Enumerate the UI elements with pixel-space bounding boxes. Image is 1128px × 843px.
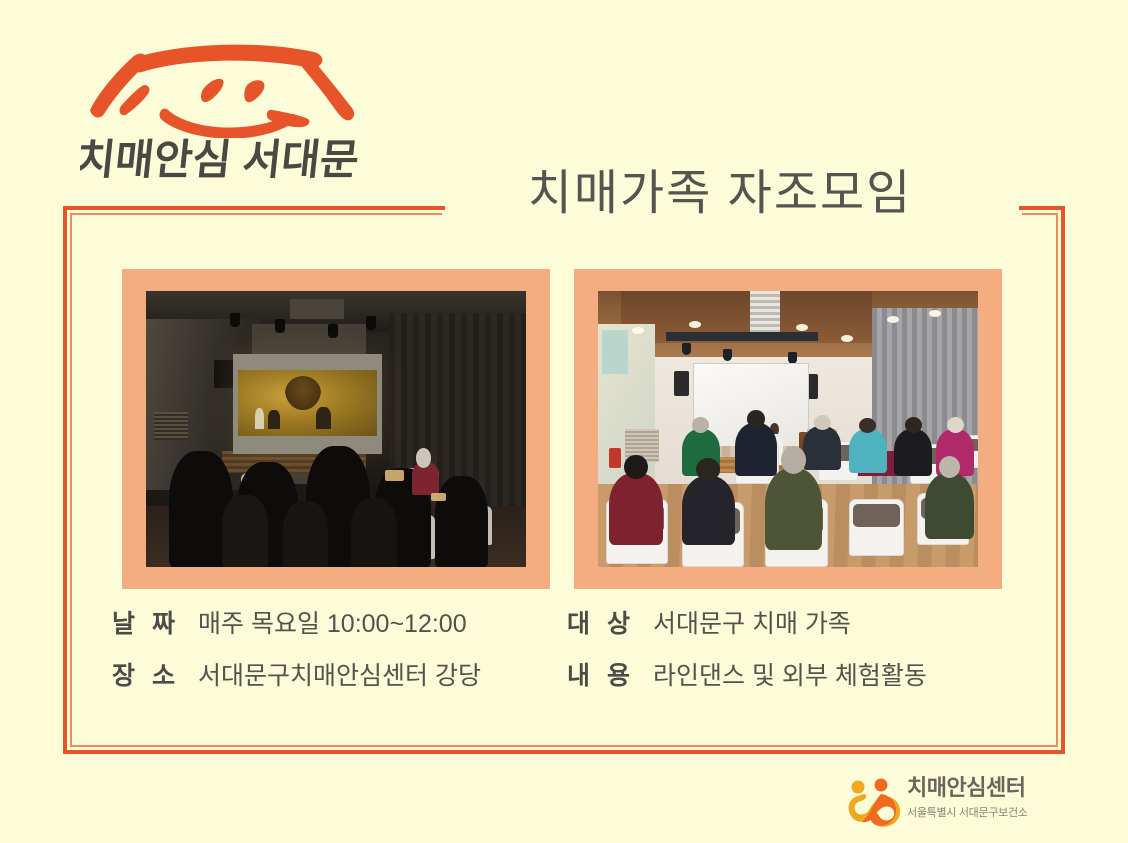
audience-member-maroon xyxy=(609,473,662,545)
info-label-date: 날 짜 xyxy=(112,604,186,640)
frame-top-left-inner-line xyxy=(70,213,442,215)
wall-vent xyxy=(154,412,188,440)
photo-row xyxy=(122,269,1002,591)
frame-right-line xyxy=(1061,206,1065,754)
spotlight xyxy=(723,349,732,361)
info-value-target: 서대문구 치매 가족 xyxy=(653,604,851,640)
audience-member xyxy=(222,495,268,567)
chair xyxy=(849,499,904,556)
projected-figure xyxy=(255,408,265,429)
info-row-content: 내 용 라인댄스 및 외부 체험활동 xyxy=(567,656,987,692)
page-title: 치매가족 자조모임 xyxy=(440,170,1000,218)
info-label-target: 대 상 xyxy=(567,604,641,640)
info-value-date: 매주 목요일 10:00~12:00 xyxy=(198,604,467,640)
speaker-left xyxy=(214,360,233,388)
footer-subtitle: 서울특별시 서대문구보건소 xyxy=(907,804,1067,820)
frame-top-right-inner-line xyxy=(1022,213,1058,215)
audience-member xyxy=(351,498,397,567)
spotlight xyxy=(230,313,240,327)
photo-lit-auditorium xyxy=(598,291,978,567)
poster-canvas: 치매안심 서대문 치매가족 자조모임 xyxy=(0,0,1128,843)
audience-member-dark xyxy=(803,426,841,470)
projected-tree xyxy=(285,376,321,410)
audience-member xyxy=(435,476,488,567)
frame-bottom-inner-line xyxy=(70,745,1058,747)
audience-member-teal xyxy=(849,429,887,473)
photo-dark-auditorium xyxy=(146,291,526,567)
info-row-target: 대 상 서대문구 치매 가족 xyxy=(567,604,987,640)
projected-figure xyxy=(268,410,279,430)
frame-left-inner-line xyxy=(70,213,72,747)
two-people-infinity-icon xyxy=(845,778,901,828)
brand-logo: 치매안심 서대문 xyxy=(76,28,376,188)
info-value-content: 라인댄스 및 외부 체험활동 xyxy=(653,656,927,692)
audience-member-black xyxy=(682,476,735,545)
phone-glow xyxy=(385,470,404,481)
projected-image xyxy=(238,370,377,436)
footer-text: 치매안심센터 서울특별시 서대문구보건소 xyxy=(907,776,1067,820)
brand-wordmark: 치매안심 서대문 xyxy=(80,128,380,188)
upper-window xyxy=(602,330,629,374)
projection-screen xyxy=(233,354,381,453)
frame-right-inner-line xyxy=(1056,213,1058,747)
projected-figure xyxy=(316,407,331,429)
info-label-place: 장 소 xyxy=(112,656,186,692)
downlight xyxy=(887,316,899,323)
projector xyxy=(290,299,343,318)
spotlight xyxy=(682,343,691,355)
spotlight xyxy=(275,319,285,333)
photo-card-lit-auditorium xyxy=(574,269,1002,589)
audience-member xyxy=(283,501,329,567)
lighting-track xyxy=(666,332,818,340)
audience-member-olive xyxy=(765,468,822,551)
footer-title: 치매안심센터 xyxy=(907,776,1067,800)
downlight xyxy=(632,327,644,334)
info-row-place: 장 소 서대문구치매안심센터 강당 xyxy=(112,656,582,692)
speaker-left xyxy=(674,371,689,396)
info-column-right: 대 상 서대문구 치매 가족 내 용 라인댄스 및 외부 체험활동 xyxy=(567,604,987,708)
frame-bottom-line xyxy=(63,750,1065,754)
hanok-roof-smile-icon xyxy=(76,28,376,138)
audience-hat xyxy=(416,448,431,467)
frame-top-right-line xyxy=(1019,206,1065,210)
info-label-content: 내 용 xyxy=(567,656,641,692)
frame-left-line xyxy=(63,206,67,754)
photo-card-dark-auditorium xyxy=(122,269,550,589)
audience-member-navy xyxy=(735,423,777,475)
downlight xyxy=(796,324,808,331)
fire-extinguisher xyxy=(609,448,620,467)
audience-member-olive xyxy=(925,473,974,539)
info-row-date: 날 짜 매주 목요일 10:00~12:00 xyxy=(112,604,582,640)
frame-top-left-line xyxy=(63,206,445,210)
info-block: 날 짜 매주 목요일 10:00~12:00 장 소 서대문구치매안심센터 강당… xyxy=(112,604,992,714)
audience-member-black xyxy=(894,429,932,476)
spotlight xyxy=(328,324,338,338)
info-column-left: 날 짜 매주 목요일 10:00~12:00 장 소 서대문구치매안심센터 강당 xyxy=(112,604,582,708)
info-value-place: 서대문구치매안심센터 강당 xyxy=(198,656,481,692)
spotlight xyxy=(366,316,376,330)
svg-text:치매안심 서대문: 치매안심 서대문 xyxy=(80,136,361,183)
footer-logo: 치매안심센터 서울특별시 서대문구보건소 xyxy=(845,776,1060,834)
phone-glow xyxy=(431,493,446,501)
